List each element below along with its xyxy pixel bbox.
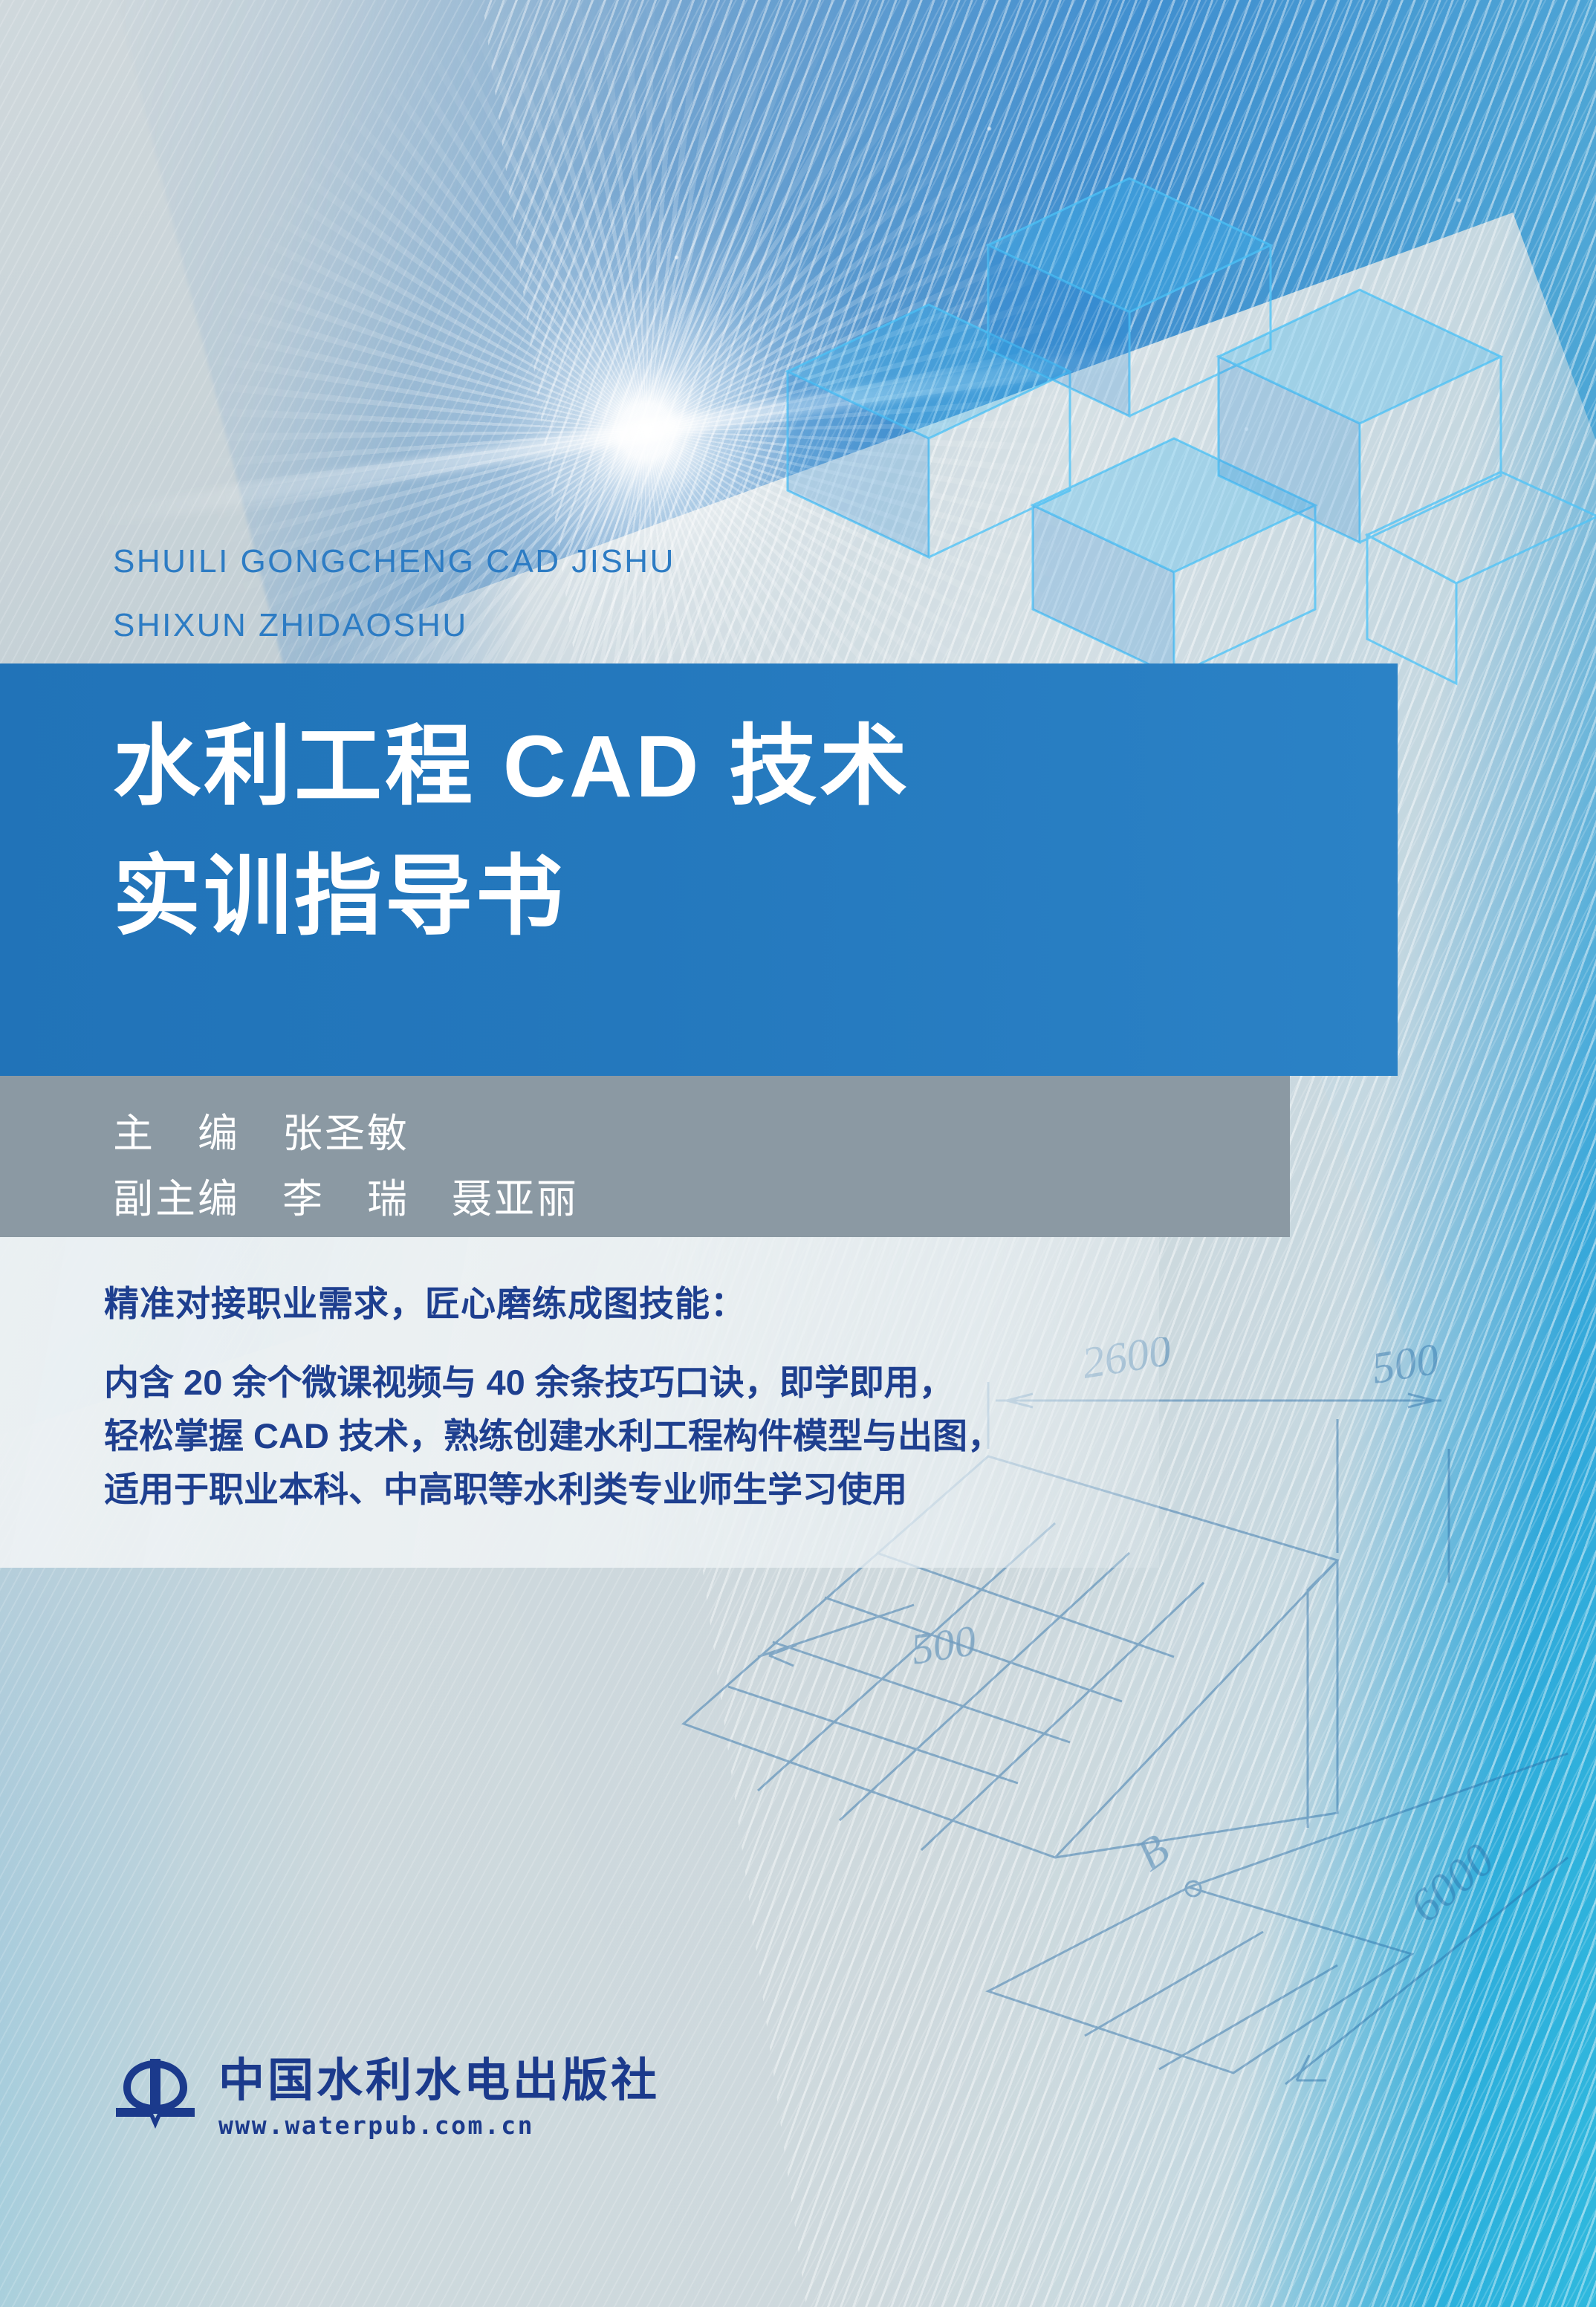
pinyin-line-2: SHIXUN ZHIDAOSHU xyxy=(113,594,930,658)
svg-text:500: 500 xyxy=(908,1616,979,1674)
associate-editors: 副主编 李 瑞 聂亚丽 xyxy=(113,1167,1153,1232)
description-line-2: 轻松掌握 CAD 技术，熟练创建水利工程构件模型与出图， xyxy=(104,1409,1144,1463)
title-line-2: 实训指导书 xyxy=(113,832,1376,962)
pinyin-line-1: SHUILI GONGCHENG CAD JISHU xyxy=(113,530,930,594)
author-credits: 主 编 张圣敏 副主编 李 瑞 聂亚丽 xyxy=(113,1101,1153,1232)
description-text: 精准对接职业需求，匠心磨练成图技能： 内含 20 余个微课视频与 40 余条技巧… xyxy=(104,1275,1144,1516)
book-cover: 2600 500 500 6000 B SHUILI GONGCHENG CAD… xyxy=(0,0,1596,2307)
editor-in-chief: 主 编 张圣敏 xyxy=(113,1101,1153,1167)
pinyin-subtitle: SHUILI GONGCHENG CAD JISHU SHIXUN ZHIDAO… xyxy=(113,530,930,658)
description-headline: 精准对接职业需求，匠心磨练成图技能： xyxy=(104,1275,1144,1326)
description-line-1: 内含 20 余个微课视频与 40 余条技巧口诀，即学即用， xyxy=(104,1356,1144,1409)
title-line-1: 水利工程 CAD 技术 xyxy=(113,702,1376,832)
isometric-cubes-graphic xyxy=(743,89,1596,758)
svg-text:500: 500 xyxy=(1369,1337,1442,1393)
waterpub-book-logo-icon xyxy=(111,2054,199,2135)
svg-text:B: B xyxy=(1128,1825,1178,1881)
description-line-3: 适用于职业本科、中高职等水利类专业师生学习使用 xyxy=(104,1463,1144,1516)
publisher-block: 中国水利水电出版社 www.waterpub.com.cn xyxy=(111,2054,660,2140)
svg-text:6000: 6000 xyxy=(1401,1834,1504,1933)
book-title: 水利工程 CAD 技术 实训指导书 xyxy=(113,702,1376,962)
publisher-url: www.waterpub.com.cn xyxy=(218,2111,660,2140)
publisher-name: 中国水利水电出版社 xyxy=(218,2054,660,2108)
